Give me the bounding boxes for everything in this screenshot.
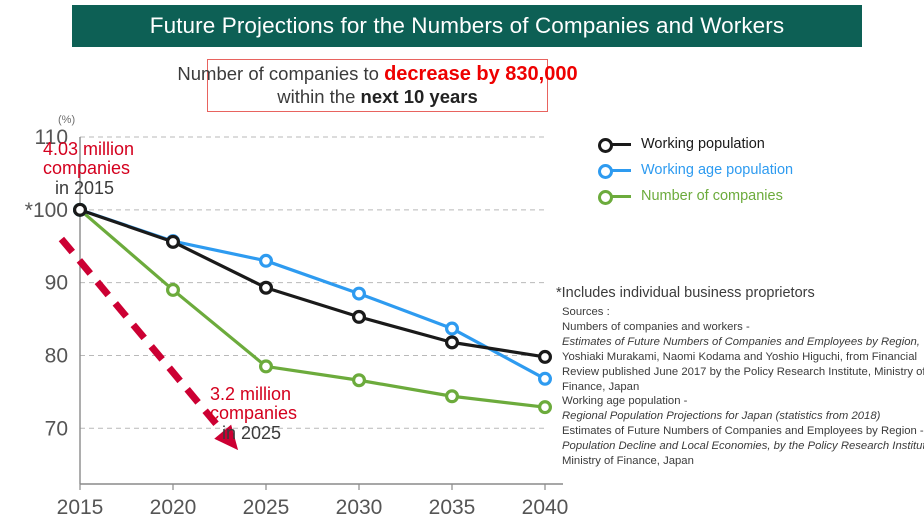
data-point [540, 373, 551, 384]
callout-line-1: Number of companies to decrease by 830,0… [177, 62, 577, 86]
annotation-companies-2025: 3.2 millioncompaniesin 2025 [210, 384, 297, 443]
chart-page: Future Projections for the Numbers of Co… [0, 0, 924, 517]
data-point [168, 236, 179, 247]
y-axis-tick-label: 70 [45, 417, 68, 440]
legend-label: Working age population [641, 162, 793, 178]
data-point [168, 285, 179, 296]
callout-highlight: decrease by 830,000 [384, 63, 578, 85]
data-point [540, 402, 551, 413]
annotation-text: in 2025 [222, 423, 281, 443]
annotation-text: companies [210, 403, 297, 423]
page-title: Future Projections for the Numbers of Co… [150, 13, 785, 39]
annotation-text: 4.03 million [43, 139, 134, 159]
series-number-of-companies [75, 204, 551, 412]
line-chart: 110*100908070201520202025203020352040(%)… [0, 100, 600, 517]
source-line: Estimates of Future Numbers of Companies… [562, 424, 924, 439]
x-axis-tick-label: 2025 [243, 496, 290, 517]
legend-item-working-age-population: Working age population [598, 157, 918, 183]
data-point [261, 255, 272, 266]
annotation-text: 3.2 million [210, 384, 291, 404]
data-point [540, 352, 551, 363]
data-point [261, 282, 272, 293]
legend-label: Number of companies [641, 188, 783, 204]
source-line: Review published June 2017 by the Policy… [562, 365, 924, 380]
callout-line1-prefix: Number of companies to [177, 63, 384, 84]
data-point [75, 204, 86, 215]
data-point [447, 391, 458, 402]
legend-marker-icon [598, 136, 632, 152]
axis-layer [80, 137, 563, 490]
series-layer [75, 204, 551, 412]
source-line: Estimates of Future Numbers of Companies… [562, 335, 924, 350]
annotation-companies-2015: 4.03 millioncompaniesin 2015 [43, 139, 134, 198]
x-axis-tick-label: 2035 [429, 496, 476, 517]
source-list: Sources :Numbers of companies and worker… [556, 305, 924, 469]
x-axis-tick-label: 2040 [522, 496, 569, 517]
x-axis-tick-label: 2020 [150, 496, 197, 517]
data-point [447, 323, 458, 334]
y-axis-tick-label: *100 [25, 199, 68, 222]
annotation-text: companies [43, 158, 130, 178]
source-line: Regional Population Projections for Japa… [562, 409, 924, 424]
chart-legend: Working population Working age populatio… [598, 131, 918, 209]
source-line: Population Decline and Local Economies, … [562, 439, 924, 454]
page-title-banner: Future Projections for the Numbers of Co… [72, 5, 862, 47]
data-point [261, 361, 272, 372]
source-line: Numbers of companies and workers - [562, 320, 924, 335]
legend-item-number-of-companies: Number of companies [598, 183, 918, 209]
series-working-population [75, 204, 551, 362]
source-line: Working age population - [562, 394, 924, 409]
chart-svg: 110*100908070201520202025203020352040(%)… [0, 100, 600, 517]
y-axis-tick-label: 80 [45, 344, 68, 367]
footnote-asterisk: *Includes individual business proprietor… [556, 285, 924, 301]
annotation-text: in 2015 [55, 178, 114, 198]
grid-layer [80, 137, 545, 428]
data-point [447, 337, 458, 348]
source-line: Sources : [562, 305, 924, 320]
legend-label: Working population [641, 136, 765, 152]
x-axis-tick-label: 2030 [336, 496, 383, 517]
source-line: Ministry of Finance, Japan [562, 454, 924, 469]
data-point [354, 311, 365, 322]
data-point [354, 375, 365, 386]
source-notes: *Includes individual business proprietor… [556, 285, 924, 469]
y-axis-tick-label: 90 [45, 272, 68, 295]
legend-marker-icon [598, 188, 632, 204]
data-point [354, 288, 365, 299]
x-axis-tick-label: 2015 [57, 496, 104, 517]
y-axis-unit-label: (%) [58, 114, 75, 126]
source-line: Yoshiaki Murakami, Naomi Kodama and Yosh… [562, 350, 924, 365]
legend-item-working-population: Working population [598, 131, 918, 157]
legend-marker-icon [598, 162, 632, 178]
source-line: Finance, Japan [562, 380, 924, 395]
